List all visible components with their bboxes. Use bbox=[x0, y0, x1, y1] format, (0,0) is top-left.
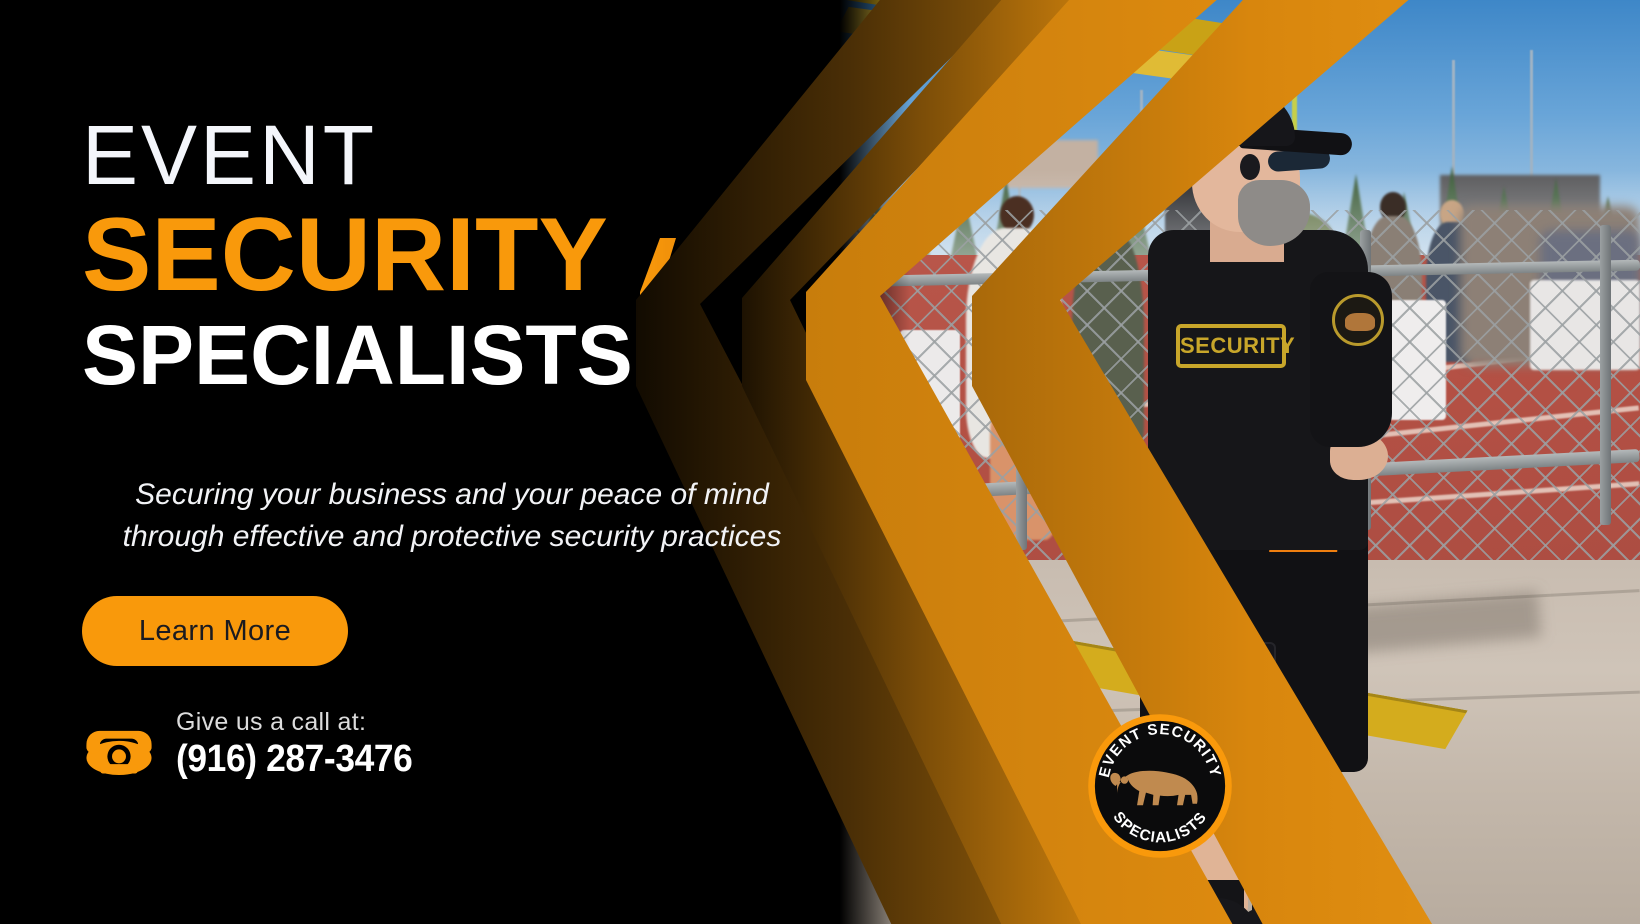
headline-line-3: SPECIALISTS bbox=[82, 312, 742, 398]
hero-content: EVENT SECURITY SPECIALISTS Securing your… bbox=[0, 0, 840, 924]
contact-block[interactable]: Give us a call at: (916) 287-3476 bbox=[80, 706, 430, 782]
headline-line-2: SECURITY bbox=[82, 202, 742, 308]
company-logo-badge[interactable]: EVENT SECURITY SPECIALISTS bbox=[1086, 712, 1234, 860]
event-security-hero-banner: SECURITY bbox=[0, 0, 1640, 924]
phone-number[interactable]: (916) 287-3476 bbox=[176, 736, 412, 782]
subtitle-line-1: Securing your business and your peace of… bbox=[135, 478, 769, 511]
headline-line-1: EVENT bbox=[82, 112, 742, 198]
learn-more-button[interactable]: Learn More bbox=[82, 596, 348, 666]
call-label: Give us a call at: bbox=[176, 708, 430, 736]
headline-block: EVENT SECURITY SPECIALISTS bbox=[82, 112, 742, 398]
telephone-icon bbox=[80, 713, 158, 775]
subtitle-block: Securing your business and your peace of… bbox=[82, 474, 822, 558]
contact-text: Give us a call at: (916) 287-3476 bbox=[176, 706, 430, 782]
subtitle-line-2: through effective and protective securit… bbox=[123, 520, 782, 553]
